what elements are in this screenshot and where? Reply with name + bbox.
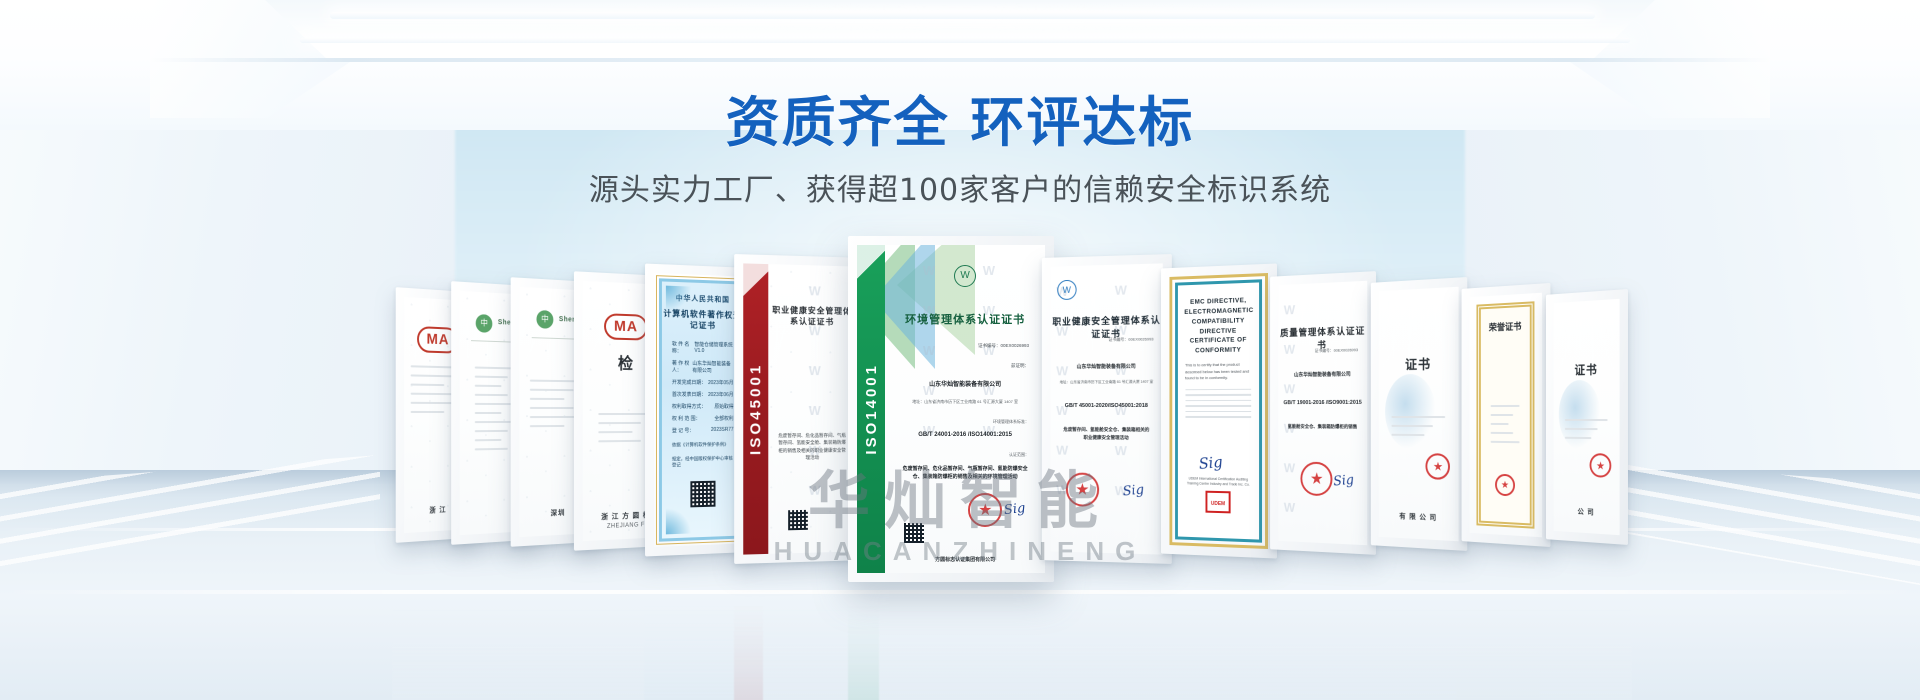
doc-lines-13 [1565,412,1607,446]
field-val-5-4: 原始取得 [714,403,733,410]
paper-w-watermark-10: W W W W W W W W W [1278,281,1367,545]
ornament-bottom-left-5 [666,507,691,534]
certificate-standard-7: GB/T 24001-2016 /ISO14001:2015 [885,432,1045,438]
qr-code-icon-7 [904,523,924,543]
exhibition-hall-scene: MA 浙 江 中 ShenZ 中 ShenZhen [0,0,1920,700]
udem-badge-icon-9: UDEM [1205,490,1230,513]
doc-lines-12 [1490,398,1519,450]
red-seal-icon-12 [1495,474,1515,497]
signature-7: Sig [1004,501,1027,518]
certificate-number-8: 证书编号：00EX0026993 [1108,336,1153,343]
page-subtitle: 源头实力工厂、获得超100家客户的信赖安全标识系统 [0,176,1920,206]
certificate-scope-6: 危废暂存间、危化品暂存间、气瓶暂存间、氢能安全舱、集装箱防爆柜的销售及相关的职业… [777,432,847,462]
signature-9: Sig [1198,453,1223,473]
signature-8: Sig [1122,483,1145,500]
certificate-address-7: 地址：山东省济南市历下区工业南路 61 号汇源大厦 1407 室 [898,399,1032,405]
certificate-issuer-9: UDEM International Certification Auditin… [1184,476,1252,488]
certificate-scope-7: 危废暂存间、危化品暂存间、气瓶暂存间、氢能防爆安全仓、集装箱防爆柜的销售及相关的… [898,465,1032,482]
certificate-scope-label-7: 认证范围： [1009,452,1029,458]
green-seal-icon-2: 中 [476,314,493,333]
page-title: 资质齐全 环评达标 [0,96,1920,150]
certificate-footer-11: 有 限 公 司 [1379,510,1459,524]
red-seal-icon-8 [1066,472,1099,506]
field-val-5-5: 全部权利 [714,415,733,422]
ma-logo-icon-4: MA [604,313,647,340]
field-key-5-5: 权 利 范 围： [672,415,700,422]
field-val-5-0: 智能仓储管理系统 V1.0 [694,341,733,356]
certificate-frame-9[interactable]: EMC DIRECTIVE, ELECTROMAGNETIC COMPATIBI… [1161,263,1277,558]
field-val-5-1: 山东华灿智能装备有限公司 [692,360,733,374]
certificate-scope-10: 氢能舱安全仓、集装箱防爆柜的销售 [1287,423,1358,431]
certificate-standard-8: GB/T 45001-2020/ISO45001:2018 [1050,403,1162,409]
field-val-5-3: 2023年06月 [708,391,734,398]
certificate-title-7: 环境管理体系认证证书 [885,311,1045,327]
certificate-body-6: 职业健康安全管理体系认证证书 危废暂存间、危化品暂存间、气瓶暂存间、氢能安全舱、… [768,264,855,554]
certificate-company-label-7: 兹证明： [1011,363,1029,369]
software-copyright-certificate: 中华人民共和国 计算机软件著作权登记证书 软 件 名 称：智能仓储管理系统 V1… [659,278,746,541]
red-seal-icon-7 [968,493,1002,527]
certificate-frame-8[interactable]: W W W W W W W W W W W W W 职业健康安全管理体系认证证书… [1042,254,1172,564]
iso14001-side-bar: ISO14001 [857,245,885,573]
certificate-frame-10[interactable]: W W W W W W W W W 质量管理体系认证证书 证书编号：00EX00… [1270,271,1376,555]
banner-headings: 资质齐全 环评达标 源头实力工厂、获得超100家客户的信赖安全标识系统 [0,0,1920,206]
ce-directive-certificate: EMC DIRECTIVE, ELECTROMAGNETIC COMPATIBI… [1175,279,1262,542]
red-seal-icon-13 [1590,453,1612,478]
doc-lines-11 [1391,409,1445,443]
certificate-address-8: 地址：山东省济南市历下区工业南路 61 号汇源大厦 1407 室 [1059,380,1153,385]
certificate-frame-7[interactable]: W W W W W W W W W W W W W W W W ISO14001… [848,236,1054,582]
certificate-frame-6[interactable]: W W W W W W W W W W W W ISO45001 职业健康安全管… [734,254,864,564]
certificate-title-12: 荣誉证书 [1481,319,1530,334]
certificate-note1-5: 依据《计算机软件保护条例》 [672,442,734,449]
field-key-5-0: 软 件 名 称： [672,340,695,354]
certificate-title-13: 证书 [1554,360,1620,379]
signature-10: Sig [1333,473,1355,490]
certificate-company-7: 山东华灿智能装备有限公司 [885,379,1045,388]
certification-body-seal-icon-7: W [954,265,976,287]
certificate-title-6: 职业健康安全管理体系认证证书 [768,305,855,329]
certificate-frame-12[interactable]: 荣誉证书 [1462,283,1551,547]
certificate-frame-11[interactable]: 证书 有 限 公 司 [1371,277,1467,551]
ornament-top-left-5 [666,286,691,313]
certificate-body-9: This is to certify that the product desc… [1185,361,1252,382]
certificate-frame-13[interactable]: 证书 公 司 [1546,289,1628,545]
certificate-number-10: 证书编号：00EX0026993 [1315,347,1358,354]
field-key-5-4: 权利取得方式： [672,403,706,410]
green-seal-icon-3: 中 [536,310,553,329]
field-val-5-2: 2023年05月 [708,379,734,386]
certificate-company-10: 山东华灿智能装备有限公司 [1278,371,1367,379]
field-key-5-2: 开发完成日期： [672,379,706,386]
certificate-issuer-7: 方圆标志认证集团有限公司 [885,556,1045,563]
certificate-scope-8: 危废暂存间、氢能舱安全仓、集装箱相关的职业健康安全管理活动 [1061,426,1151,442]
field-val-5-6: 2023SR77 [711,427,734,434]
certificate-company-8: 山东华灿智能装备有限公司 [1050,362,1162,370]
certificate-standard-10: GB/T 19001-2016 /ISO9001:2015 [1278,400,1367,406]
certificate-standard-label-7: 环境管理体系标准： [993,419,1029,425]
field-key-5-3: 首次发表日期： [672,391,706,398]
certificate-body-7: W 环境管理体系认证证书 证书编号：00EX0026993 兹证明： 山东华灿智… [885,245,1045,573]
certificate-note2-5: 规定，经中国版权保护中心审核登记 [672,456,734,469]
certificate-field-rows-5: 软 件 名 称：智能仓储管理系统 V1.0 著 作 权 人：山东华灿智能装备有限… [672,340,734,434]
certificate-number-7: 证书编号：00EX0026993 [978,343,1029,349]
iso45001-side-bar: ISO45001 [743,263,768,554]
certificate-title-11: 证书 [1379,353,1459,374]
certificate-footer-13: 公 司 [1554,505,1620,519]
qr-code-icon-6 [788,510,808,530]
iso14001-bar-label: ISO14001 [863,363,880,455]
iso45001-bar-label: ISO45001 [747,363,764,456]
field-key-5-1: 著 作 权 人： [672,360,692,374]
doc-lines-9 [1186,389,1251,418]
field-key-5-6: 登 记 号： [672,427,694,434]
qr-code-icon-5 [690,480,715,507]
red-seal-icon-11 [1426,453,1451,480]
certificate-title-9: EMC DIRECTIVE, ELECTROMAGNETIC COMPATIBI… [1184,296,1252,356]
gold-border-12: 荣誉证书 [1476,301,1534,528]
